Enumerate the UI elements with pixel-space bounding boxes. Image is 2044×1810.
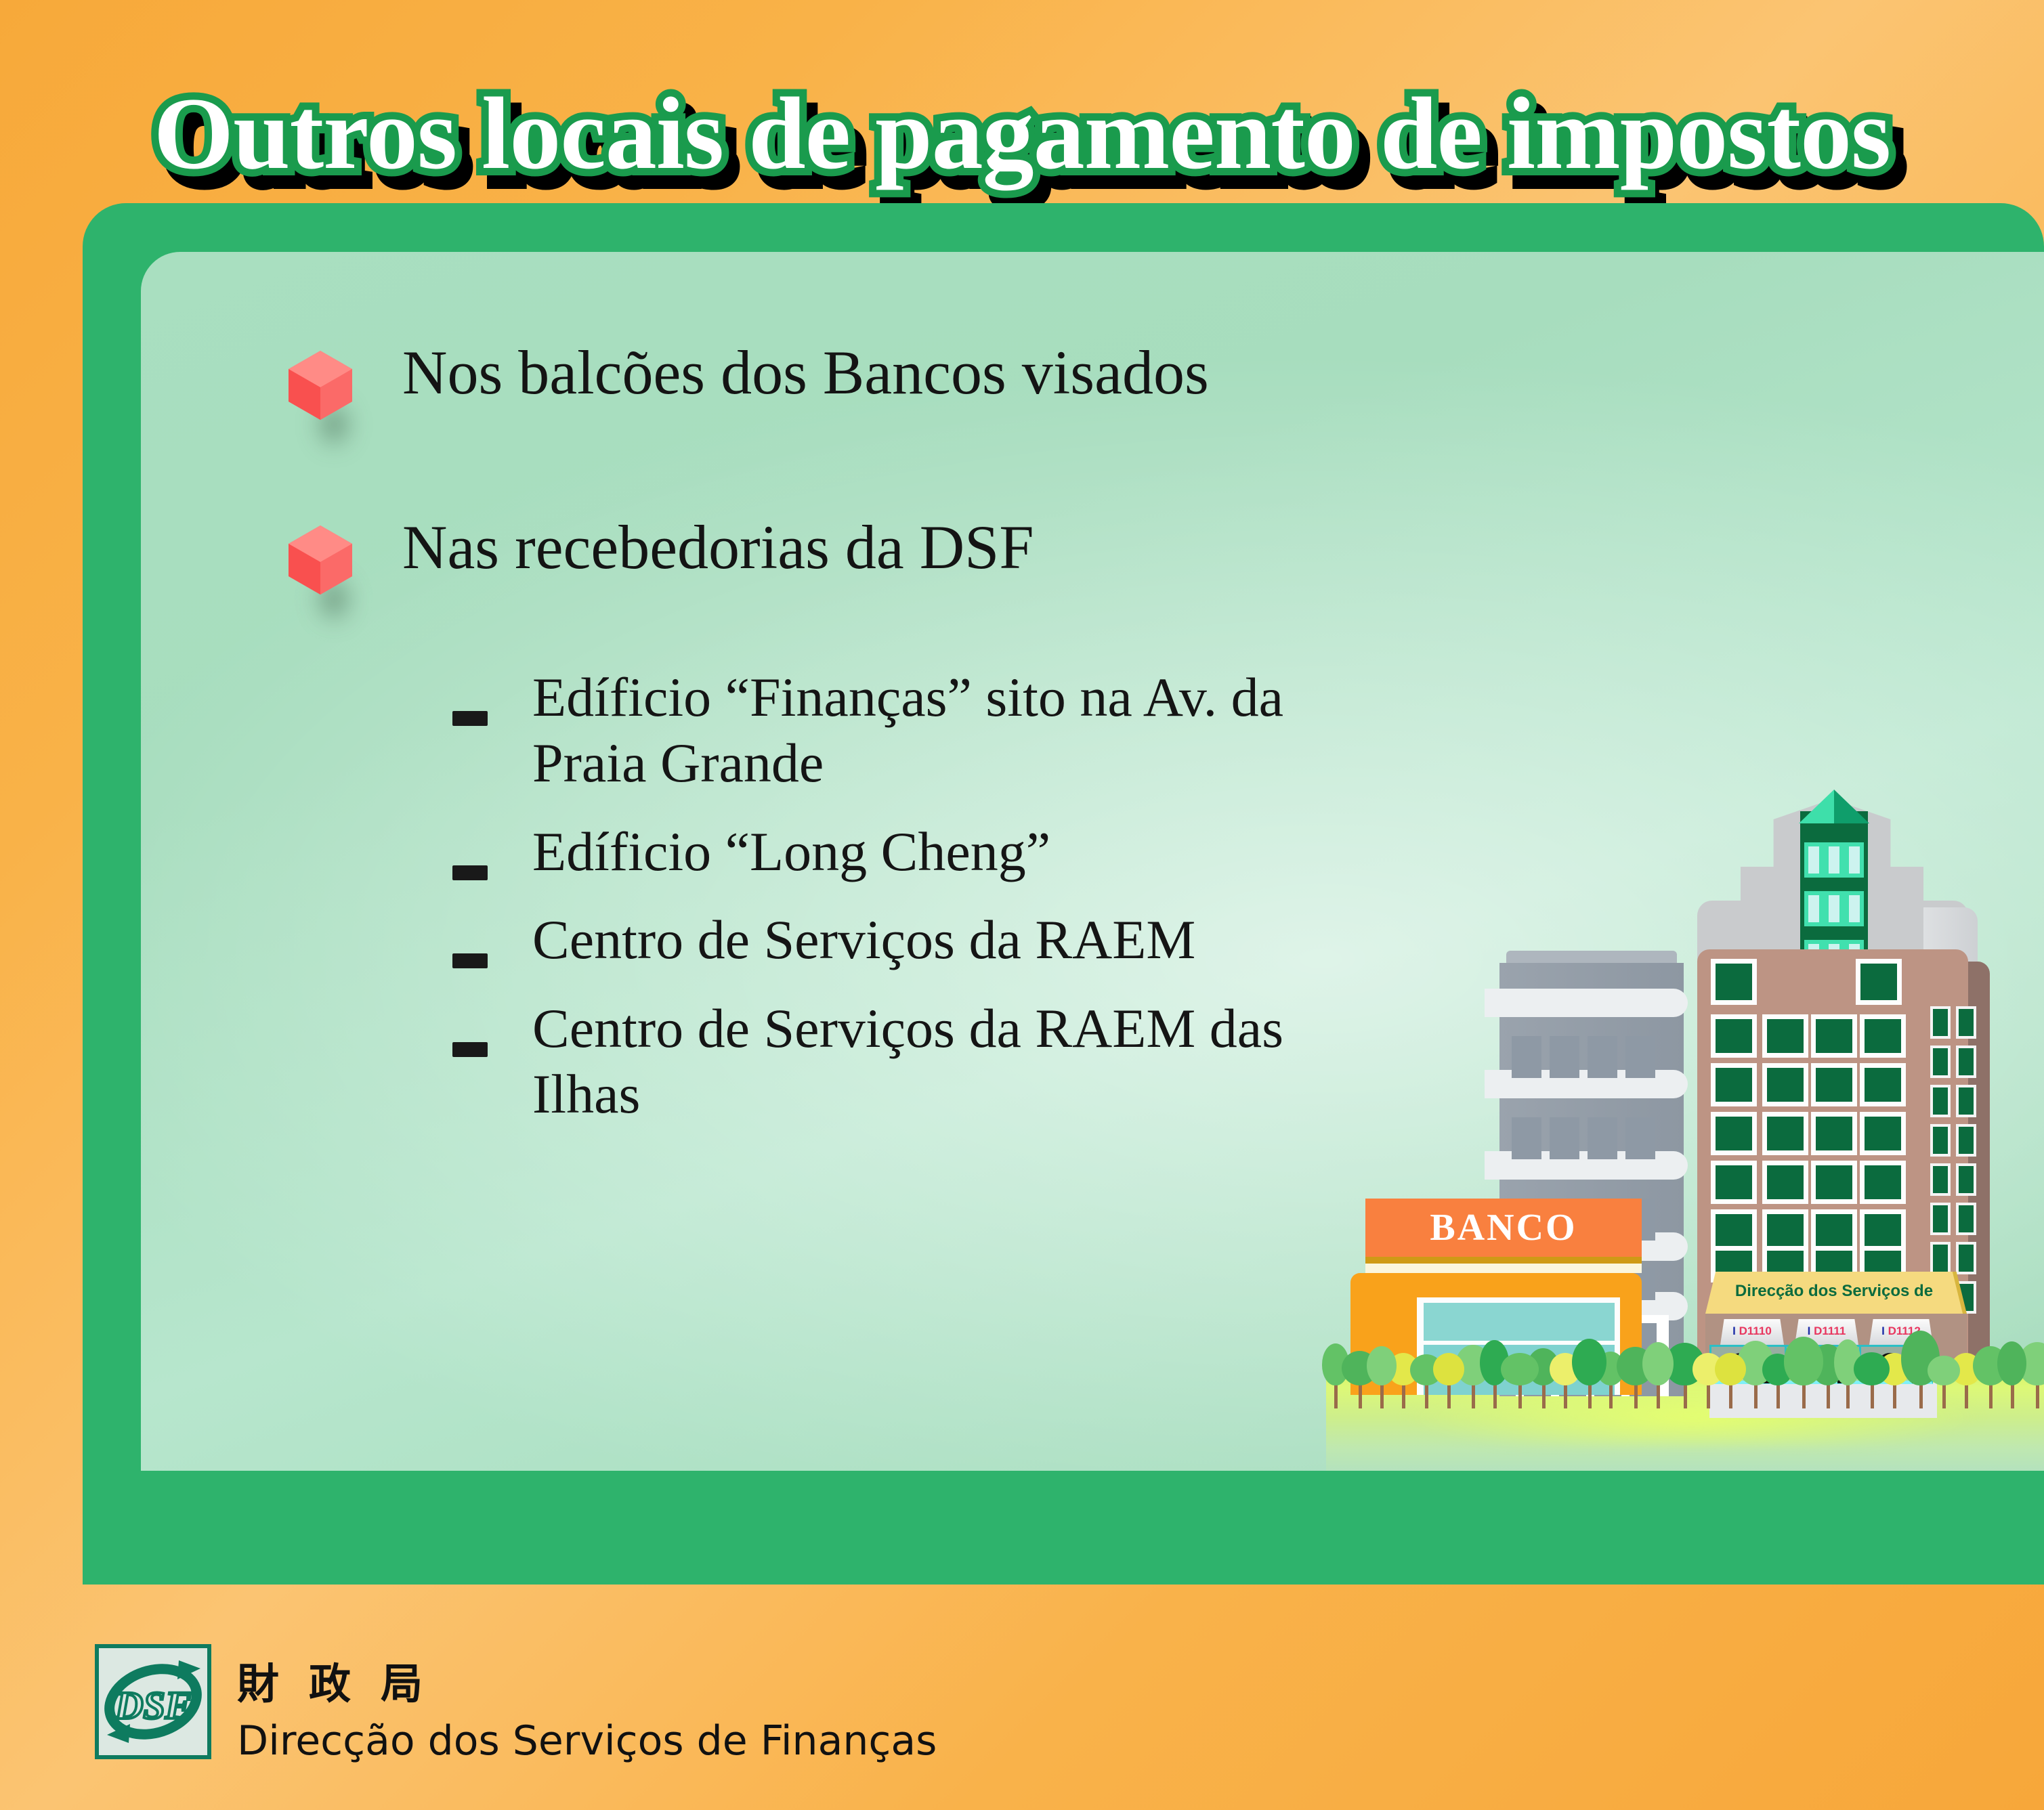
dsf-building-icon: Direcção dos Serviços de Finanças I <box>1678 799 1990 1395</box>
dash-bullet-icon <box>452 711 488 726</box>
tree-icon <box>1572 1322 1606 1408</box>
dsf-logo-icon: DSF <box>95 1644 211 1759</box>
page-title: Outros locais de pagamento de impostos <box>154 80 1890 188</box>
list-item-label: Edíficio “Long Cheng” <box>532 819 1050 885</box>
list-item-label: Nas recebedorias da DSF <box>402 516 1034 578</box>
list-item-label: Centro de Serviços da RAEM das Ilhas <box>532 996 1332 1127</box>
tree-icon <box>1928 1339 1960 1408</box>
list-item: Centro de Serviços da RAEM das Ilhas <box>452 996 1468 1127</box>
dash-bullet-icon <box>452 865 488 880</box>
list-item: Edíficio “Finanças” sito na Av. da Praia… <box>452 665 1468 796</box>
tree-icon <box>1997 1325 2026 1408</box>
list-item-label: Edíficio “Finanças” sito na Av. da Praia… <box>532 665 1332 796</box>
content-panel-inner: Nos balcões dos Bancos visados Nas receb… <box>141 252 2044 1471</box>
slide-title-area: Outros locais de pagamento de impostos <box>0 80 2044 188</box>
tree-icon <box>1433 1337 1464 1408</box>
list-item: Nas recebedorias da DSF <box>287 516 1034 596</box>
tree-icon <box>1367 1330 1397 1408</box>
list-item: Centro de Serviços da RAEM <box>452 907 1468 973</box>
cube-bullet-icon <box>287 349 354 421</box>
tree-icon <box>1501 1337 1539 1408</box>
bank-sign: BANCO <box>1365 1199 1642 1257</box>
tree-icon <box>1854 1336 1890 1408</box>
list-item: Edíficio “Long Cheng” <box>452 819 1468 885</box>
svg-text:DSF: DSF <box>114 1683 192 1727</box>
cube-bullet-icon <box>287 524 354 596</box>
tree-row <box>1326 1327 2044 1408</box>
tree-icon <box>1784 1333 1823 1408</box>
content-panel-outer: Nos balcões dos Bancos visados Nas receb… <box>83 203 2044 1585</box>
footer-portuguese-name: Direcção dos Serviços de Finanças <box>237 1717 937 1765</box>
tree-icon <box>1715 1337 1746 1408</box>
dash-bullet-icon <box>452 953 488 968</box>
list-item: Nos balcões dos Bancos visados <box>287 341 1209 421</box>
bank-sign-label: BANCO <box>1365 1199 1642 1257</box>
list-item-label: Nos balcões dos Bancos visados <box>402 341 1209 404</box>
buildings-illustration: BANCO <box>1326 794 2044 1471</box>
tree-icon <box>1642 1326 1674 1408</box>
footer-chinese-name: 財政局 <box>237 1650 452 1710</box>
sub-bullet-list: Edíficio “Finanças” sito na Av. da Praia… <box>452 665 1468 1150</box>
list-item-label: Centro de Serviços da RAEM <box>532 907 1195 973</box>
dsf-awning-sign: Direcção dos Serviços de Finanças <box>1705 1272 1963 1314</box>
dash-bullet-icon <box>452 1042 488 1057</box>
